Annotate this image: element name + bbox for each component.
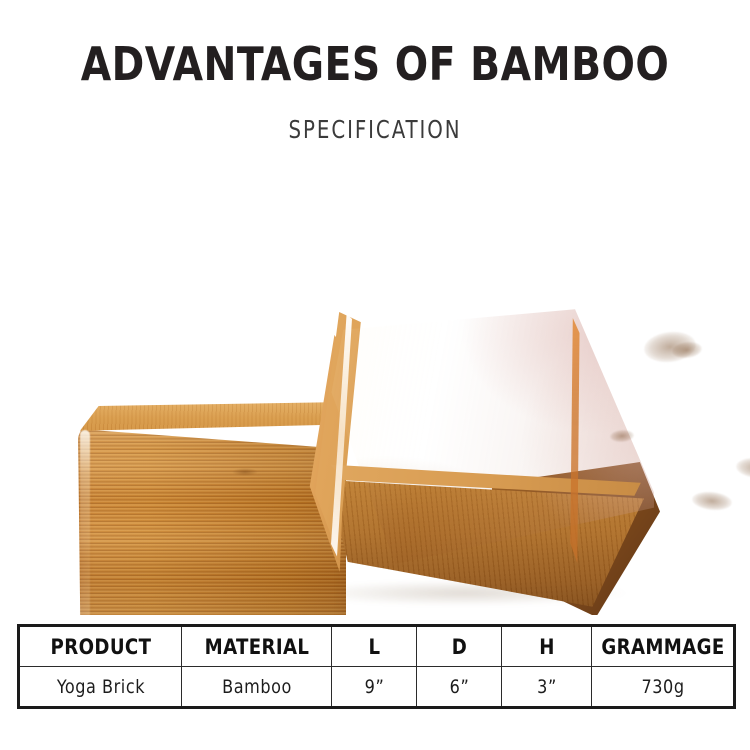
column-header-depth: D — [418, 626, 500, 667]
table-row: Yoga Brick Bamboo 9” 6” 3” 730g — [19, 667, 735, 708]
bamboo-node-mark — [232, 468, 258, 476]
column-header-length: L — [333, 626, 415, 667]
specification-table: PRODUCT MATERIAL L D H GRAMMAGE Yoga Bri… — [17, 624, 736, 709]
cell-grammage: 730g — [596, 667, 730, 708]
cell-product: Yoga Brick — [23, 667, 176, 708]
column-header-grammage: GRAMMAGE — [594, 626, 731, 667]
column-header-height: H — [503, 626, 589, 667]
bamboo-block-front — [300, 162, 660, 615]
bamboo-node-mark — [735, 456, 750, 480]
page-subtitle: SPECIFICATION — [45, 115, 705, 145]
product-photo — [0, 150, 750, 615]
page-title: ADVANTAGES OF BAMBOO — [19, 38, 732, 90]
column-header-product: PRODUCT — [22, 626, 178, 667]
column-header-material: MATERIAL — [185, 626, 329, 667]
bamboo-node-mark — [691, 490, 733, 512]
cell-length: 9” — [334, 667, 414, 708]
cell-height: 3” — [504, 667, 589, 708]
table-header-row: PRODUCT MATERIAL L D H GRAMMAGE — [19, 626, 735, 667]
product-spec-page: ADVANTAGES OF BAMBOO SPECIFICATION — [0, 0, 750, 750]
rear-block-edge-highlight — [80, 430, 90, 615]
cell-material: Bamboo — [186, 667, 327, 708]
cell-depth: 6” — [419, 667, 499, 708]
